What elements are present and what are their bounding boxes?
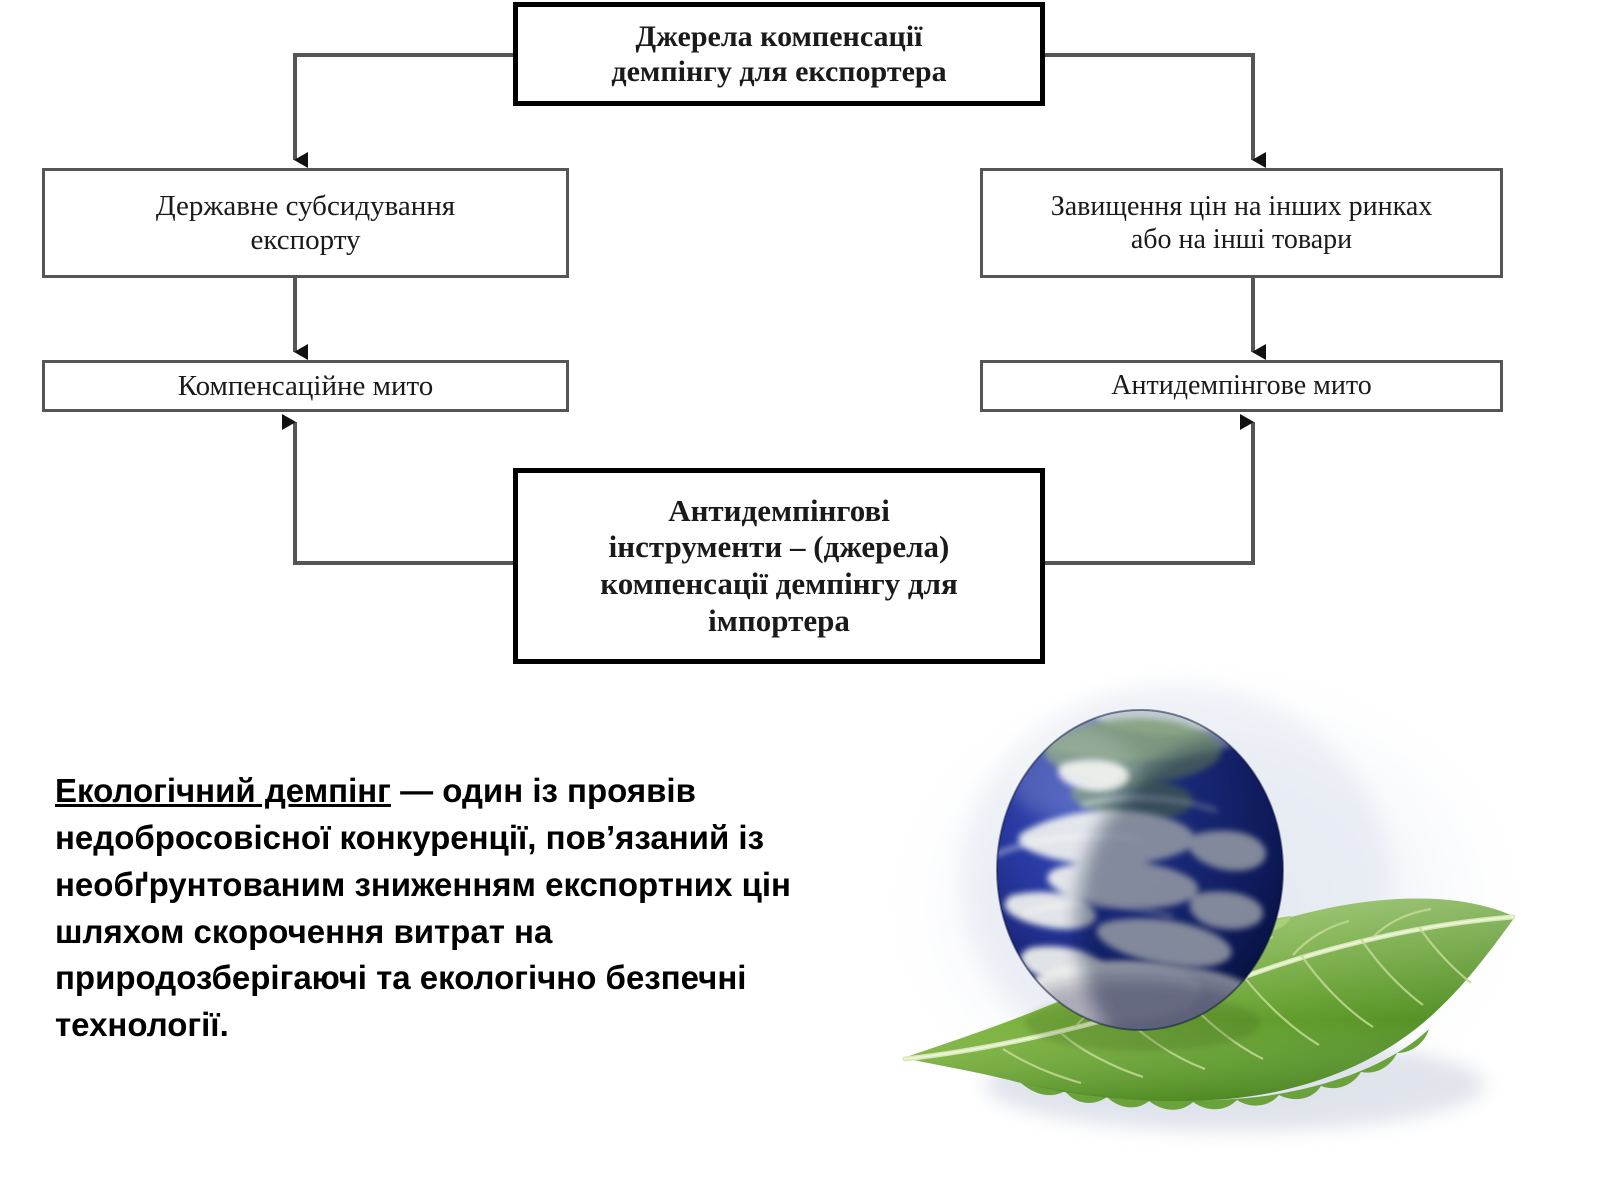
diagram-box-price-inflation: Завищення цін на інших ринках або на інш… xyxy=(980,168,1503,278)
slide-root: Джерела компенсації демпінгу для експорт… xyxy=(0,0,1600,1200)
diagram-box-label: Антидемпінгові інструменти – (джерела) к… xyxy=(518,493,1040,639)
diagram-box-label: Державне субсидування експорту xyxy=(45,189,566,257)
definition-body: — один із проявів недобросовісної конкур… xyxy=(55,772,791,1043)
connector-top-to-state-subsidy xyxy=(295,55,513,160)
connector-footer-to-antidumping-duty xyxy=(1045,422,1253,563)
diagram-box-label: Завищення цін на інших ринках або на інш… xyxy=(983,190,1500,256)
diagram-box-state-subsidy: Державне субсидування експорту xyxy=(42,168,569,278)
earth-on-leaf-image xyxy=(875,655,1575,1195)
definition-term: Екологічний демпінг xyxy=(55,772,391,809)
diagram-box-compensation-duty: Компенсаційне мито xyxy=(42,360,569,412)
diagram-box-antidumping-instruments: Антидемпінгові інструменти – (джерела) к… xyxy=(513,468,1045,664)
diagram-box-label: Джерела компенсації демпінгу для експорт… xyxy=(518,19,1040,90)
diagram-box-sources-of-dumping-compensation: Джерела компенсації демпінгу для експорт… xyxy=(513,2,1045,106)
definition-paragraph: Екологічний демпінг — один із проявів не… xyxy=(55,768,865,1049)
diagram-box-antidumping-duty: Антидемпінгове мито xyxy=(980,360,1503,412)
connector-footer-to-compensation-duty xyxy=(295,422,513,563)
flow-diagram: Джерела компенсації демпінгу для експорт… xyxy=(0,0,1600,680)
connector-top-to-price-inflation xyxy=(1045,55,1253,160)
diagram-box-label: Антидемпінгове мито xyxy=(983,369,1500,402)
globe-highlight xyxy=(1005,727,1137,819)
diagram-box-label: Компенсаційне мито xyxy=(45,369,566,403)
